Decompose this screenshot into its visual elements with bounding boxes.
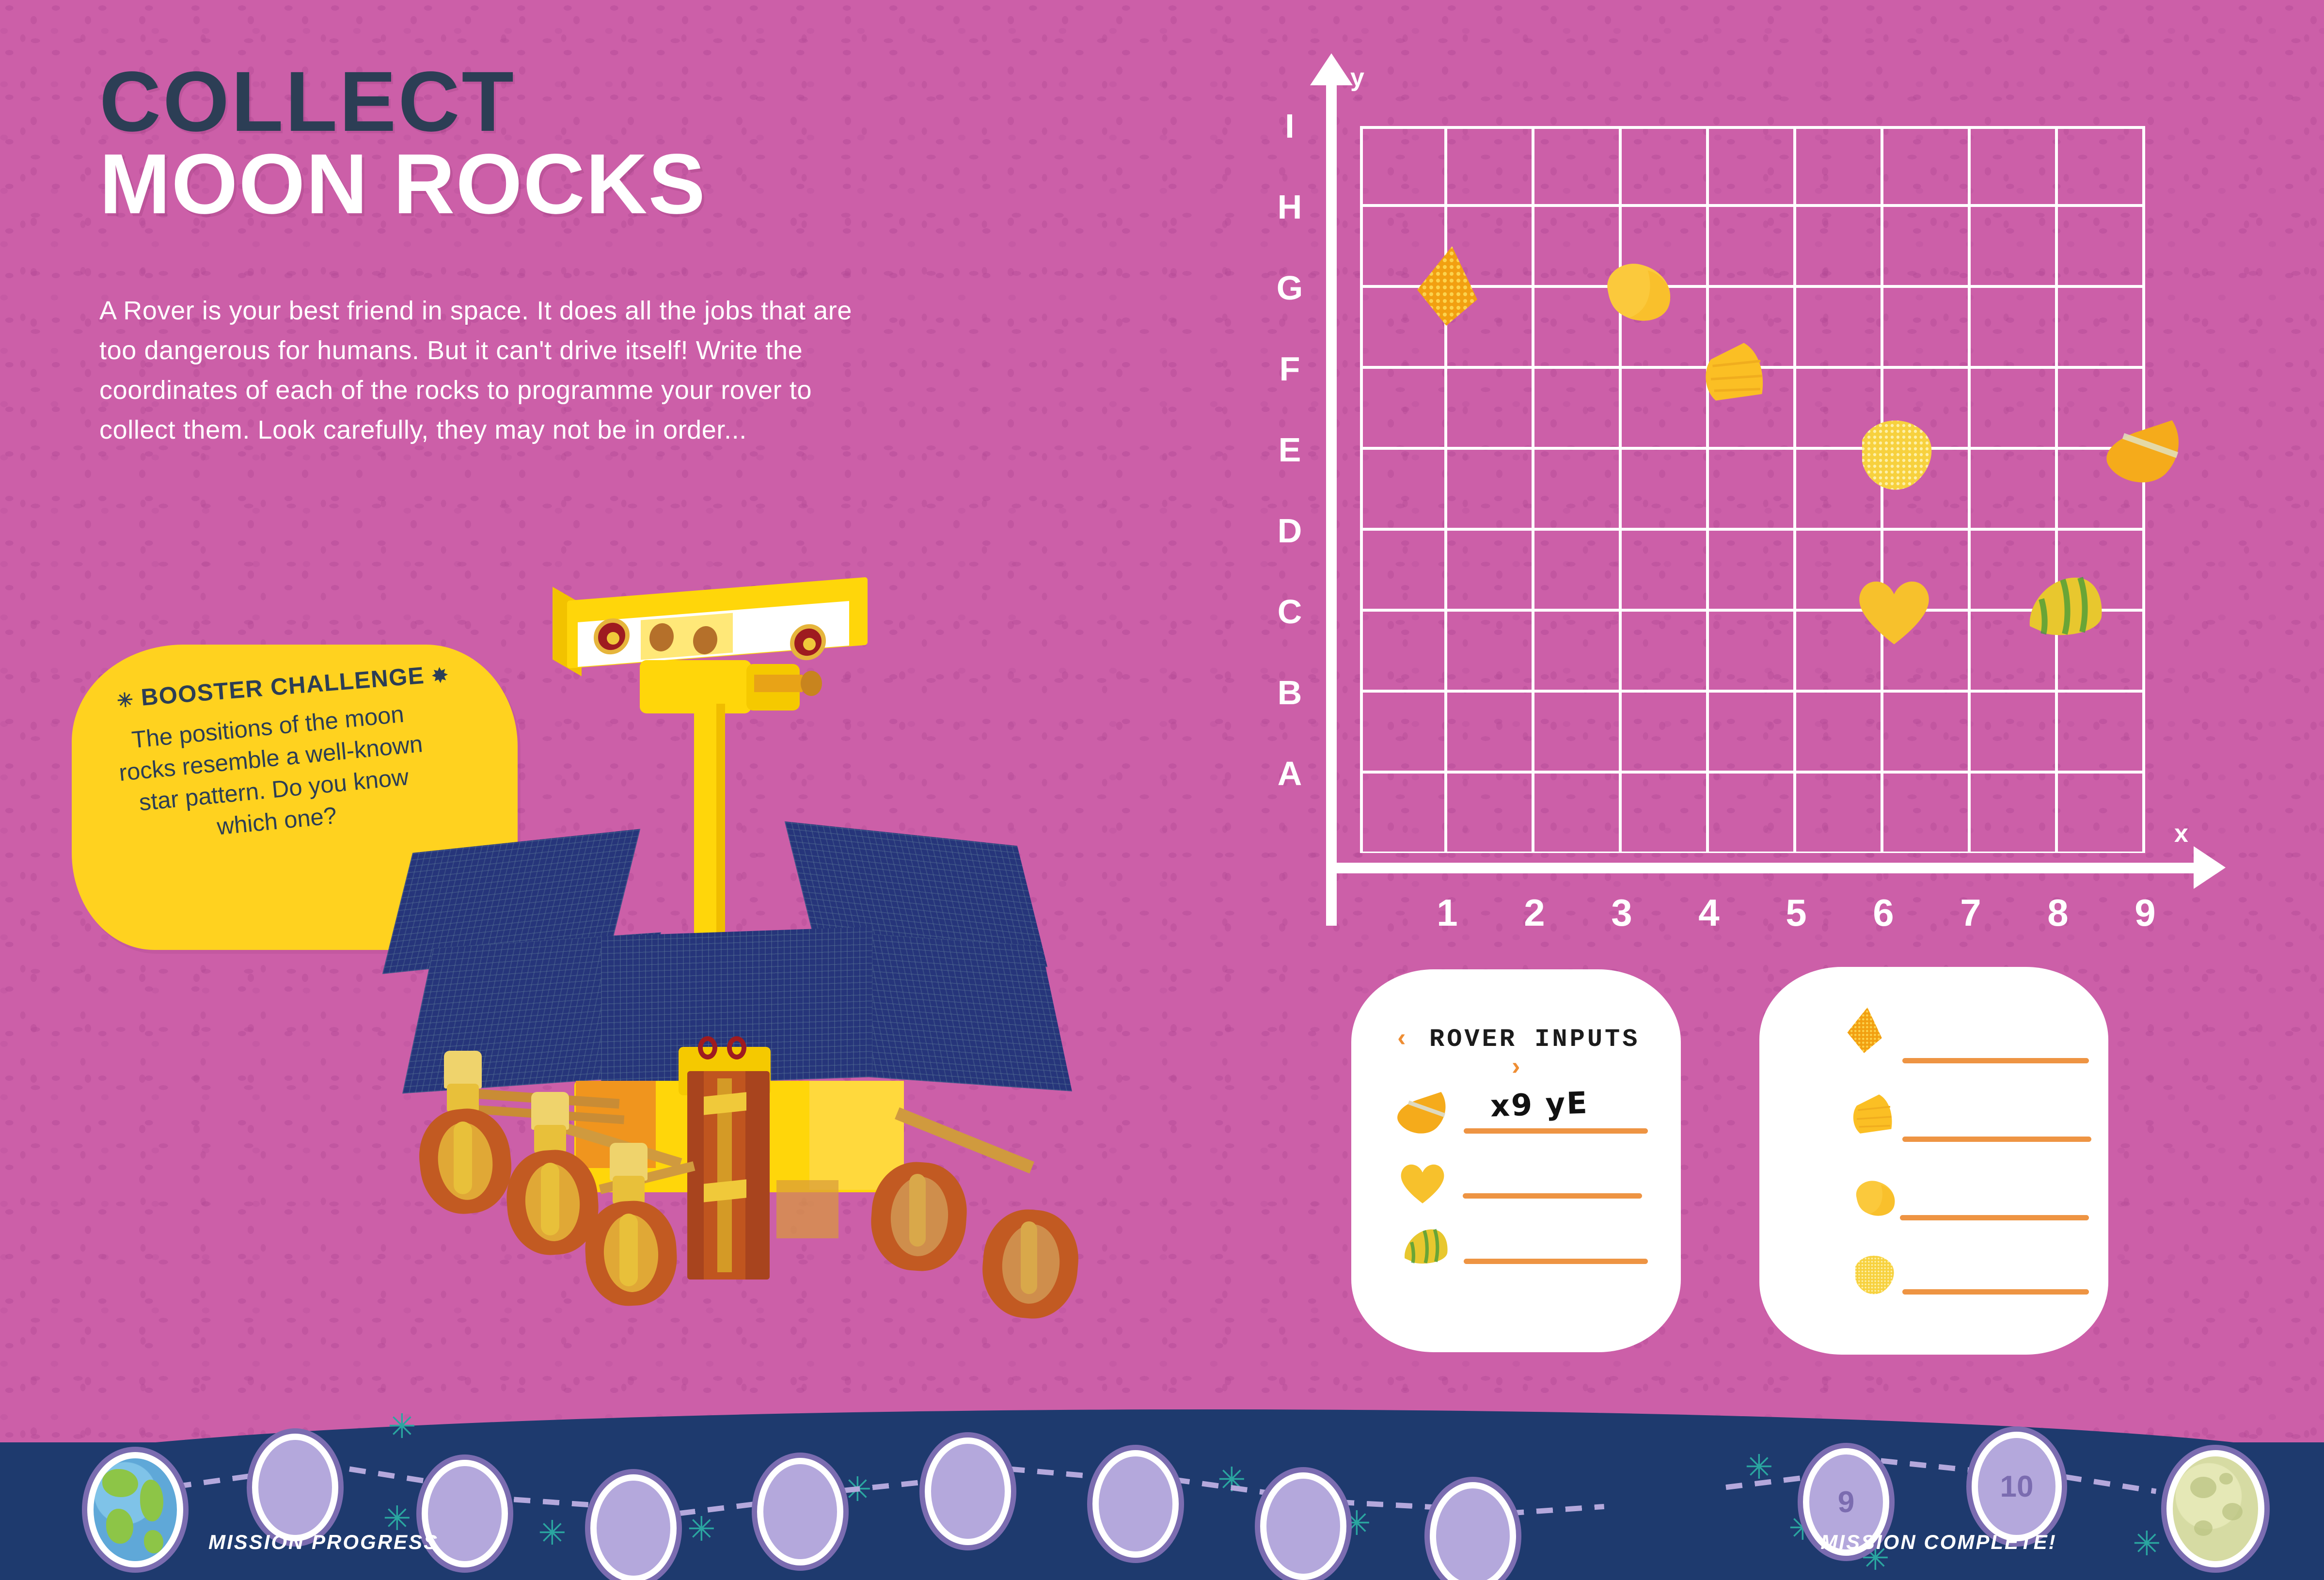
y-axis-label: y — [1350, 63, 1364, 92]
moon-rock-2-blob — [1593, 256, 1685, 329]
y-tick-B: B — [1273, 673, 1307, 712]
answer-line-row-4[interactable] — [1902, 1058, 2089, 1063]
progress-step-3[interactable] — [590, 1474, 677, 1580]
progress-step-5[interactable] — [925, 1438, 1011, 1545]
y-tick-A: A — [1273, 754, 1307, 793]
chevron-right-icon[interactable]: › — [1508, 1054, 1526, 1082]
y-tick-F: F — [1273, 349, 1307, 388]
input-row-3 — [1392, 1221, 1453, 1272]
intro-paragraph: A Rover is your best friend in space. It… — [99, 291, 855, 450]
answer-line-row-2[interactable] — [1463, 1193, 1642, 1199]
progress-step-7[interactable] — [1260, 1472, 1346, 1580]
progress-step-4[interactable] — [757, 1458, 843, 1565]
mission-progress-label: MISSION PROGRESS — [208, 1531, 439, 1554]
answer-line-row-3[interactable] — [1464, 1259, 1648, 1264]
x-tick-3: 3 — [1611, 891, 1632, 935]
grid-lines — [1360, 126, 2145, 853]
x-tick-9: 9 — [2134, 891, 2155, 935]
x-tick-8: 8 — [2047, 891, 2068, 935]
mission-complete-label: MISSION COMPLETE! — [1820, 1531, 2056, 1554]
earth-icon — [87, 1452, 183, 1567]
moon-icon — [2166, 1450, 2264, 1567]
sparkle-icon-left: ✳ — [116, 689, 135, 712]
answer-line-row-7[interactable] — [1902, 1289, 2089, 1295]
row-rock-woven-chunk-icon — [1848, 1250, 1902, 1299]
row-rock-green-streak-icon — [1392, 1221, 1453, 1270]
rover-illustration — [407, 572, 1105, 1396]
rover-inputs-title: ROVER INPUTS — [1429, 1025, 1640, 1054]
input-row-6 — [1848, 1175, 1903, 1224]
y-tick-G: G — [1273, 269, 1307, 307]
moon-rock-4-woven-chunk — [1849, 411, 1945, 498]
answer-value-row-1[interactable]: x9 yE — [1490, 1085, 1589, 1123]
moon-rock-coordinate-grid: y x I H G F E D C B A 1 2 3 4 5 6 7 8 9 — [1360, 126, 2155, 872]
row-rock-fan-icon — [1846, 1088, 1901, 1144]
rover-inputs-heading: ‹ ROVER INPUTS › — [1391, 1025, 1643, 1082]
moon-rock-6-heart — [1850, 572, 1938, 649]
y-tick-H: H — [1273, 188, 1307, 226]
x-tick-5: 5 — [1786, 891, 1806, 935]
page-title-line2: MOON ROCKS — [99, 145, 706, 224]
moon-rock-1-dotted-wedge — [1407, 243, 1504, 340]
input-row-5 — [1846, 1088, 1901, 1146]
x-axis-label: x — [2174, 819, 2188, 848]
row-rock-heart-icon — [1396, 1158, 1449, 1207]
chevron-left-icon[interactable]: ‹ — [1394, 1025, 1412, 1054]
moon-rock-3-fan — [1694, 338, 1777, 411]
rover-neck-bar — [754, 675, 803, 692]
rover-ring-2-icon — [727, 1036, 746, 1059]
rover-ring-1-icon — [698, 1036, 717, 1059]
answer-line-row-5[interactable] — [1902, 1137, 2091, 1142]
row-rock-striped-wedge-icon — [1393, 1088, 1452, 1137]
booster-challenge-body: The positions of the moon rocks resemble… — [112, 697, 433, 853]
progress-step-6[interactable] — [1092, 1450, 1179, 1558]
y-axis-arrow-icon — [1310, 53, 1353, 85]
x-tick-6: 6 — [1873, 891, 1894, 935]
rover-hatch — [776, 1180, 838, 1238]
x-tick-7: 7 — [1960, 891, 1981, 935]
answer-line-row-6[interactable] — [1900, 1215, 2089, 1220]
moon-rock-5-striped-wedge — [2101, 417, 2188, 485]
twinkle-icon-1: ✳ — [388, 1409, 416, 1443]
x-axis-arrow-icon — [2194, 846, 2226, 889]
input-row-7 — [1848, 1250, 1902, 1301]
progress-step-10[interactable]: 10 — [1972, 1432, 2062, 1541]
input-row-4 — [1842, 1003, 1897, 1066]
progress-step-1[interactable] — [252, 1434, 338, 1541]
y-tick-I: I — [1273, 107, 1307, 145]
twinkle-icon-4: ✳ — [538, 1516, 567, 1550]
y-tick-E: E — [1273, 430, 1307, 469]
y-tick-D: D — [1273, 511, 1307, 550]
rover-lens-4-dot — [803, 638, 816, 650]
twinkle-icon-9: ✳ — [1343, 1506, 1371, 1540]
progress-step-9-label: 9 — [1838, 1485, 1854, 1519]
twinkle-icon-13: ✳ — [2133, 1527, 2161, 1561]
progress-step-10-label: 10 — [2000, 1469, 2034, 1504]
rover-lens-1-dot — [607, 632, 619, 645]
row-rock-dotted-wedge-icon — [1842, 1003, 1897, 1064]
row-rock-blob-icon — [1848, 1175, 1903, 1221]
twinkle-icon-5: ✳ — [687, 1512, 716, 1546]
input-row-1 — [1393, 1088, 1452, 1139]
rover-neck-dot — [801, 671, 822, 696]
moon-rock-7-green-streak — [2008, 566, 2110, 644]
y-tick-C: C — [1273, 592, 1307, 631]
rover-inputs-card-2 — [1759, 967, 2108, 1355]
y-axis-line — [1326, 63, 1337, 926]
input-row-2 — [1396, 1158, 1449, 1209]
x-tick-1: 1 — [1437, 891, 1457, 935]
x-axis-line — [1326, 863, 2198, 873]
x-tick-4: 4 — [1698, 891, 1719, 935]
answer-line-row-1[interactable] — [1464, 1128, 1648, 1134]
page-title-line1: COLLECT — [99, 63, 516, 142]
x-tick-2: 2 — [1524, 891, 1545, 935]
